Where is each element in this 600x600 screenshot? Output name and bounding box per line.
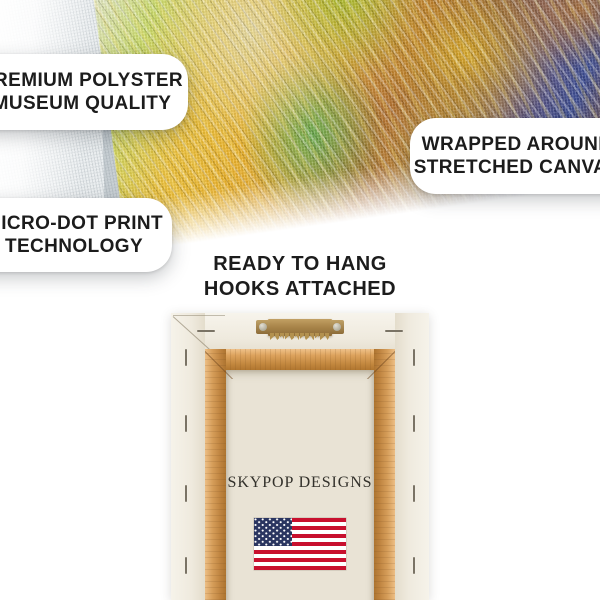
staple	[185, 557, 187, 574]
product-infographic: PREMIUM POLYSTER MUSEUM QUALITY MICRO-DO…	[0, 0, 600, 600]
staple	[413, 415, 415, 432]
staple	[385, 330, 403, 332]
ready-to-hang-caption: READY TO HANG HOOKS ATTACHED	[0, 252, 600, 302]
flag-stars	[254, 518, 292, 546]
canvas-back-view: SKYPOP DESIGNS	[171, 313, 429, 600]
hanger-screw-left	[256, 320, 270, 334]
callout-premium-polyster: PREMIUM POLYSTER MUSEUM QUALITY	[0, 54, 188, 130]
caption-line1: READY TO HANG	[0, 252, 600, 277]
callout-microdot-line1: MICRO-DOT PRINT	[0, 212, 163, 235]
staple	[197, 330, 215, 332]
staple	[413, 349, 415, 366]
usa-flag-icon	[254, 518, 346, 570]
stretcher-miter-top-right	[365, 349, 395, 379]
callout-wrapped-line2: STRETCHED CANVAS	[414, 156, 600, 179]
hanger-screw-right	[330, 320, 344, 334]
callout-wrapped-line1: WRAPPED AROUND	[422, 133, 600, 156]
staple	[413, 557, 415, 574]
canvas-back-right-edge	[395, 313, 429, 600]
brand-label: SKYPOP DESIGNS	[171, 474, 429, 492]
caption-line2: HOOKS ATTACHED	[0, 277, 600, 302]
callout-wrapped-around: WRAPPED AROUND STRETCHED CANVAS	[410, 118, 600, 194]
flag-union	[254, 518, 292, 546]
staple	[185, 349, 187, 366]
stretcher-miter-top-left	[205, 349, 235, 379]
callout-premium-line2: MUSEUM QUALITY	[0, 92, 171, 115]
staple	[185, 415, 187, 432]
callout-premium-line1: PREMIUM POLYSTER	[0, 69, 183, 92]
sawtooth-hanger-icon	[256, 319, 344, 336]
